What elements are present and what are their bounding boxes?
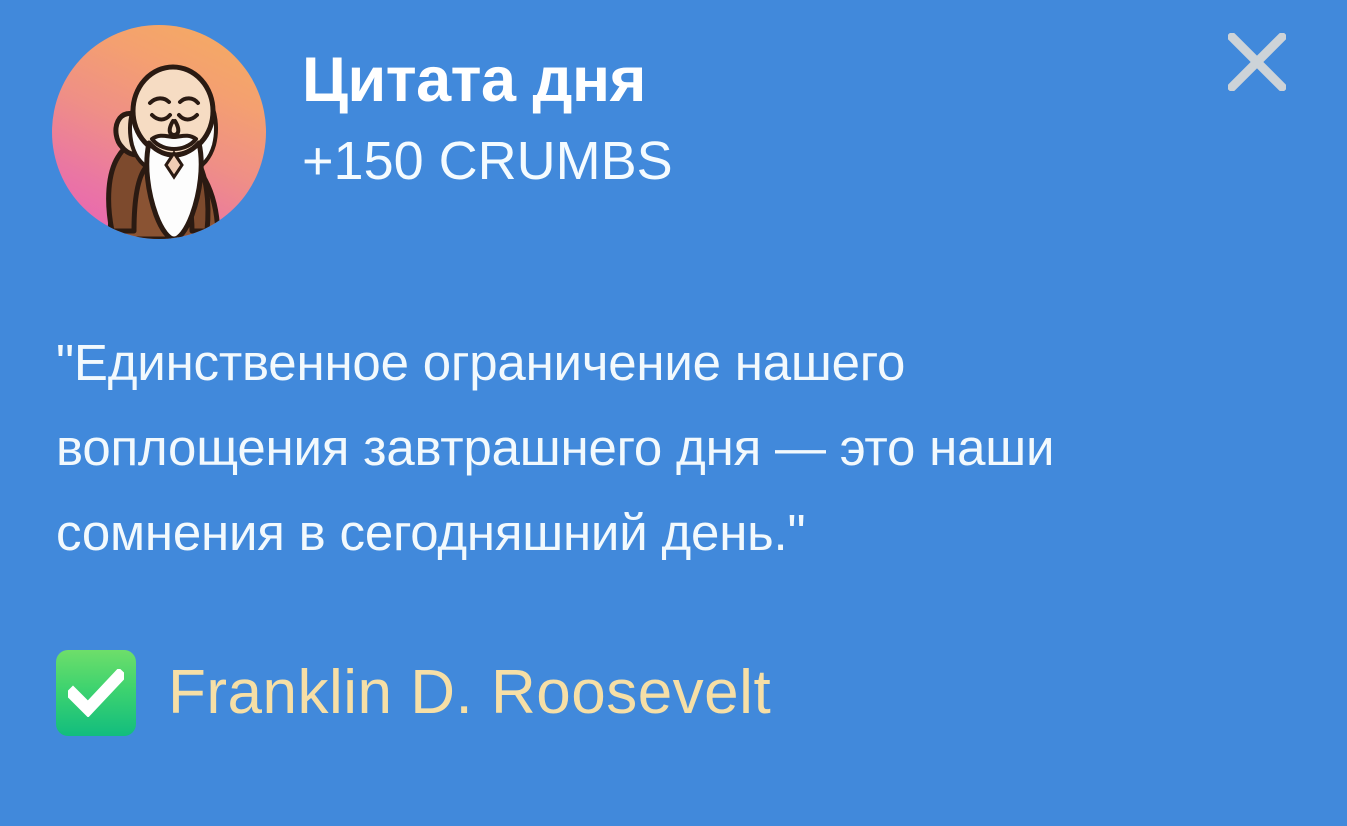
quote-author: Franklin D. Roosevelt bbox=[56, 650, 771, 736]
quote-line: воплощения завтрашнего дня — это наши bbox=[56, 405, 1286, 490]
page-title: Цитата дня bbox=[302, 47, 673, 113]
avatar bbox=[52, 25, 266, 239]
quote-of-the-day-card: Цитата дня +150 CRUMBS "Единственное огр… bbox=[0, 0, 1347, 826]
header-text: Цитата дня +150 CRUMBS bbox=[302, 25, 673, 190]
close-button[interactable] bbox=[1217, 22, 1297, 102]
quote-line: "Единственное ограничение нашего bbox=[56, 320, 1286, 405]
verified-check-icon bbox=[56, 650, 136, 736]
reward-amount: +150 CRUMBS bbox=[302, 133, 673, 190]
author-name: Franklin D. Roosevelt bbox=[168, 662, 771, 724]
card-header: Цитата дня +150 CRUMBS bbox=[52, 25, 673, 239]
quote-text: "Единственное ограничение нашего воплоще… bbox=[56, 320, 1286, 575]
close-icon bbox=[1228, 33, 1286, 91]
quote-line: сомнения в сегодняшний день." bbox=[56, 490, 1286, 575]
